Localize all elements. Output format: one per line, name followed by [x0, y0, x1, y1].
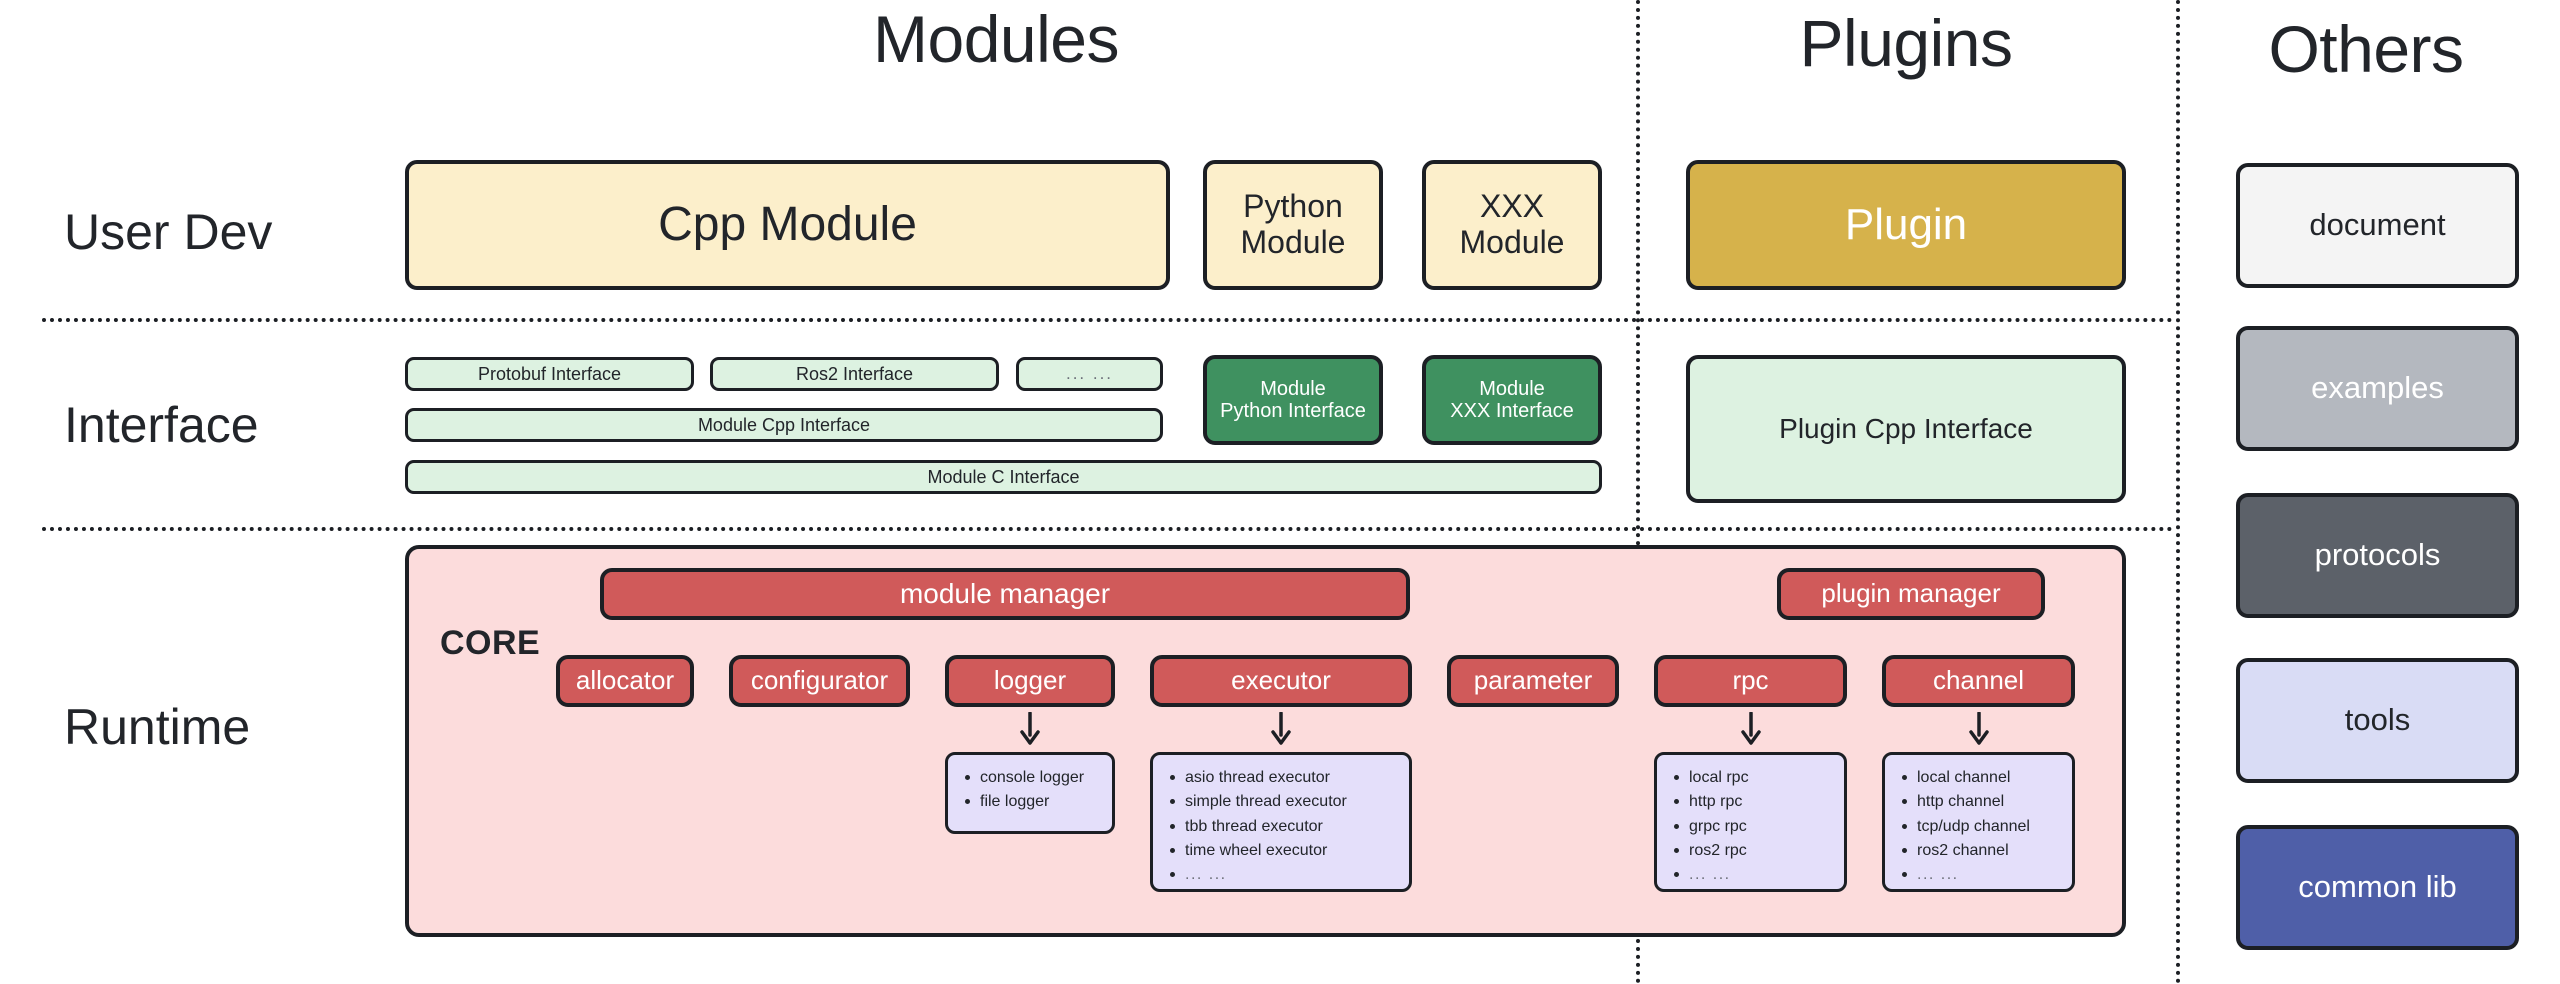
box-others-document[interactable]: document — [2236, 163, 2519, 288]
box-module-manager[interactable]: module manager — [600, 568, 1410, 620]
box-others-common-lib[interactable]: common lib — [2236, 825, 2519, 950]
column-divider-plugins-others — [2176, 0, 2180, 984]
arrow-down-executor — [1266, 712, 1296, 746]
row-label-interface: Interface — [64, 400, 259, 450]
box-component-rpc[interactable]: rpc — [1654, 655, 1847, 707]
arrow-down-logger — [1015, 712, 1045, 746]
column-header-modules: Modules — [746, 6, 1246, 72]
row-divider-userdev-interface — [42, 318, 2174, 322]
row-label-user-dev: User Dev — [64, 207, 272, 257]
details-channel: local channel http channel tcp/udp chann… — [1882, 752, 2075, 892]
details-executor: asio thread executor simple thread execu… — [1150, 752, 1412, 892]
box-component-channel[interactable]: channel — [1882, 655, 2075, 707]
box-plugin-cpp-interface[interactable]: Plugin Cpp Interface — [1686, 355, 2126, 503]
box-module-cpp-interface[interactable]: Module Cpp Interface — [405, 408, 1163, 442]
box-component-allocator[interactable]: allocator — [556, 655, 694, 707]
list-item: local channel — [1917, 766, 2062, 790]
column-header-plugins: Plugins — [1656, 10, 2156, 76]
box-others-examples[interactable]: examples — [2236, 326, 2519, 451]
list-item: ... ... — [1689, 863, 1834, 887]
row-divider-interface-runtime — [42, 527, 2174, 531]
box-component-configurator[interactable]: configurator — [729, 655, 910, 707]
list-item: tcp/udp channel — [1917, 815, 2062, 839]
list-item: asio thread executor — [1185, 766, 1399, 790]
list-item: ... ... — [1917, 863, 2062, 887]
box-protobuf-interface[interactable]: Protobuf Interface — [405, 357, 694, 391]
box-module-c-interface[interactable]: Module C Interface — [405, 460, 1602, 494]
box-others-tools[interactable]: tools — [2236, 658, 2519, 783]
list-item: http channel — [1917, 790, 2062, 814]
list-item: file logger — [980, 790, 1102, 814]
box-component-parameter[interactable]: parameter — [1447, 655, 1619, 707]
box-xxx-module[interactable]: XXX Module — [1422, 160, 1602, 290]
box-component-executor[interactable]: executor — [1150, 655, 1412, 707]
box-component-logger[interactable]: logger — [945, 655, 1115, 707]
details-rpc: local rpc http rpc grpc rpc ros2 rpc ...… — [1654, 752, 1847, 892]
list-item: tbb thread executor — [1185, 815, 1399, 839]
list-item: http rpc — [1689, 790, 1834, 814]
box-ros2-interface[interactable]: Ros2 Interface — [710, 357, 999, 391]
box-others-protocols[interactable]: protocols — [2236, 493, 2519, 618]
core-label: CORE — [440, 624, 540, 663]
details-logger: console logger file logger — [945, 752, 1115, 834]
box-plugin-manager[interactable]: plugin manager — [1777, 568, 2045, 620]
arrow-down-channel — [1964, 712, 1994, 746]
box-python-module[interactable]: Python Module — [1203, 160, 1383, 290]
column-header-others: Others — [2186, 16, 2546, 82]
list-item: simple thread executor — [1185, 790, 1399, 814]
box-cpp-module[interactable]: Cpp Module — [405, 160, 1170, 290]
box-module-python-interface[interactable]: Module Python Interface — [1203, 355, 1383, 445]
architecture-diagram: Modules Plugins Others User Dev Interfac… — [0, 0, 2560, 984]
list-item: ros2 channel — [1917, 839, 2062, 863]
list-item: ros2 rpc — [1689, 839, 1834, 863]
list-item: local rpc — [1689, 766, 1834, 790]
list-item: ... ... — [1185, 863, 1399, 887]
row-label-runtime: Runtime — [64, 702, 250, 752]
arrow-down-rpc — [1736, 712, 1766, 746]
box-module-xxx-interface[interactable]: Module XXX Interface — [1422, 355, 1602, 445]
list-item: console logger — [980, 766, 1102, 790]
box-plugin[interactable]: Plugin — [1686, 160, 2126, 290]
list-item: time wheel executor — [1185, 839, 1399, 863]
box-etc-interface[interactable]: ... ... — [1016, 357, 1163, 391]
list-item: grpc rpc — [1689, 815, 1834, 839]
